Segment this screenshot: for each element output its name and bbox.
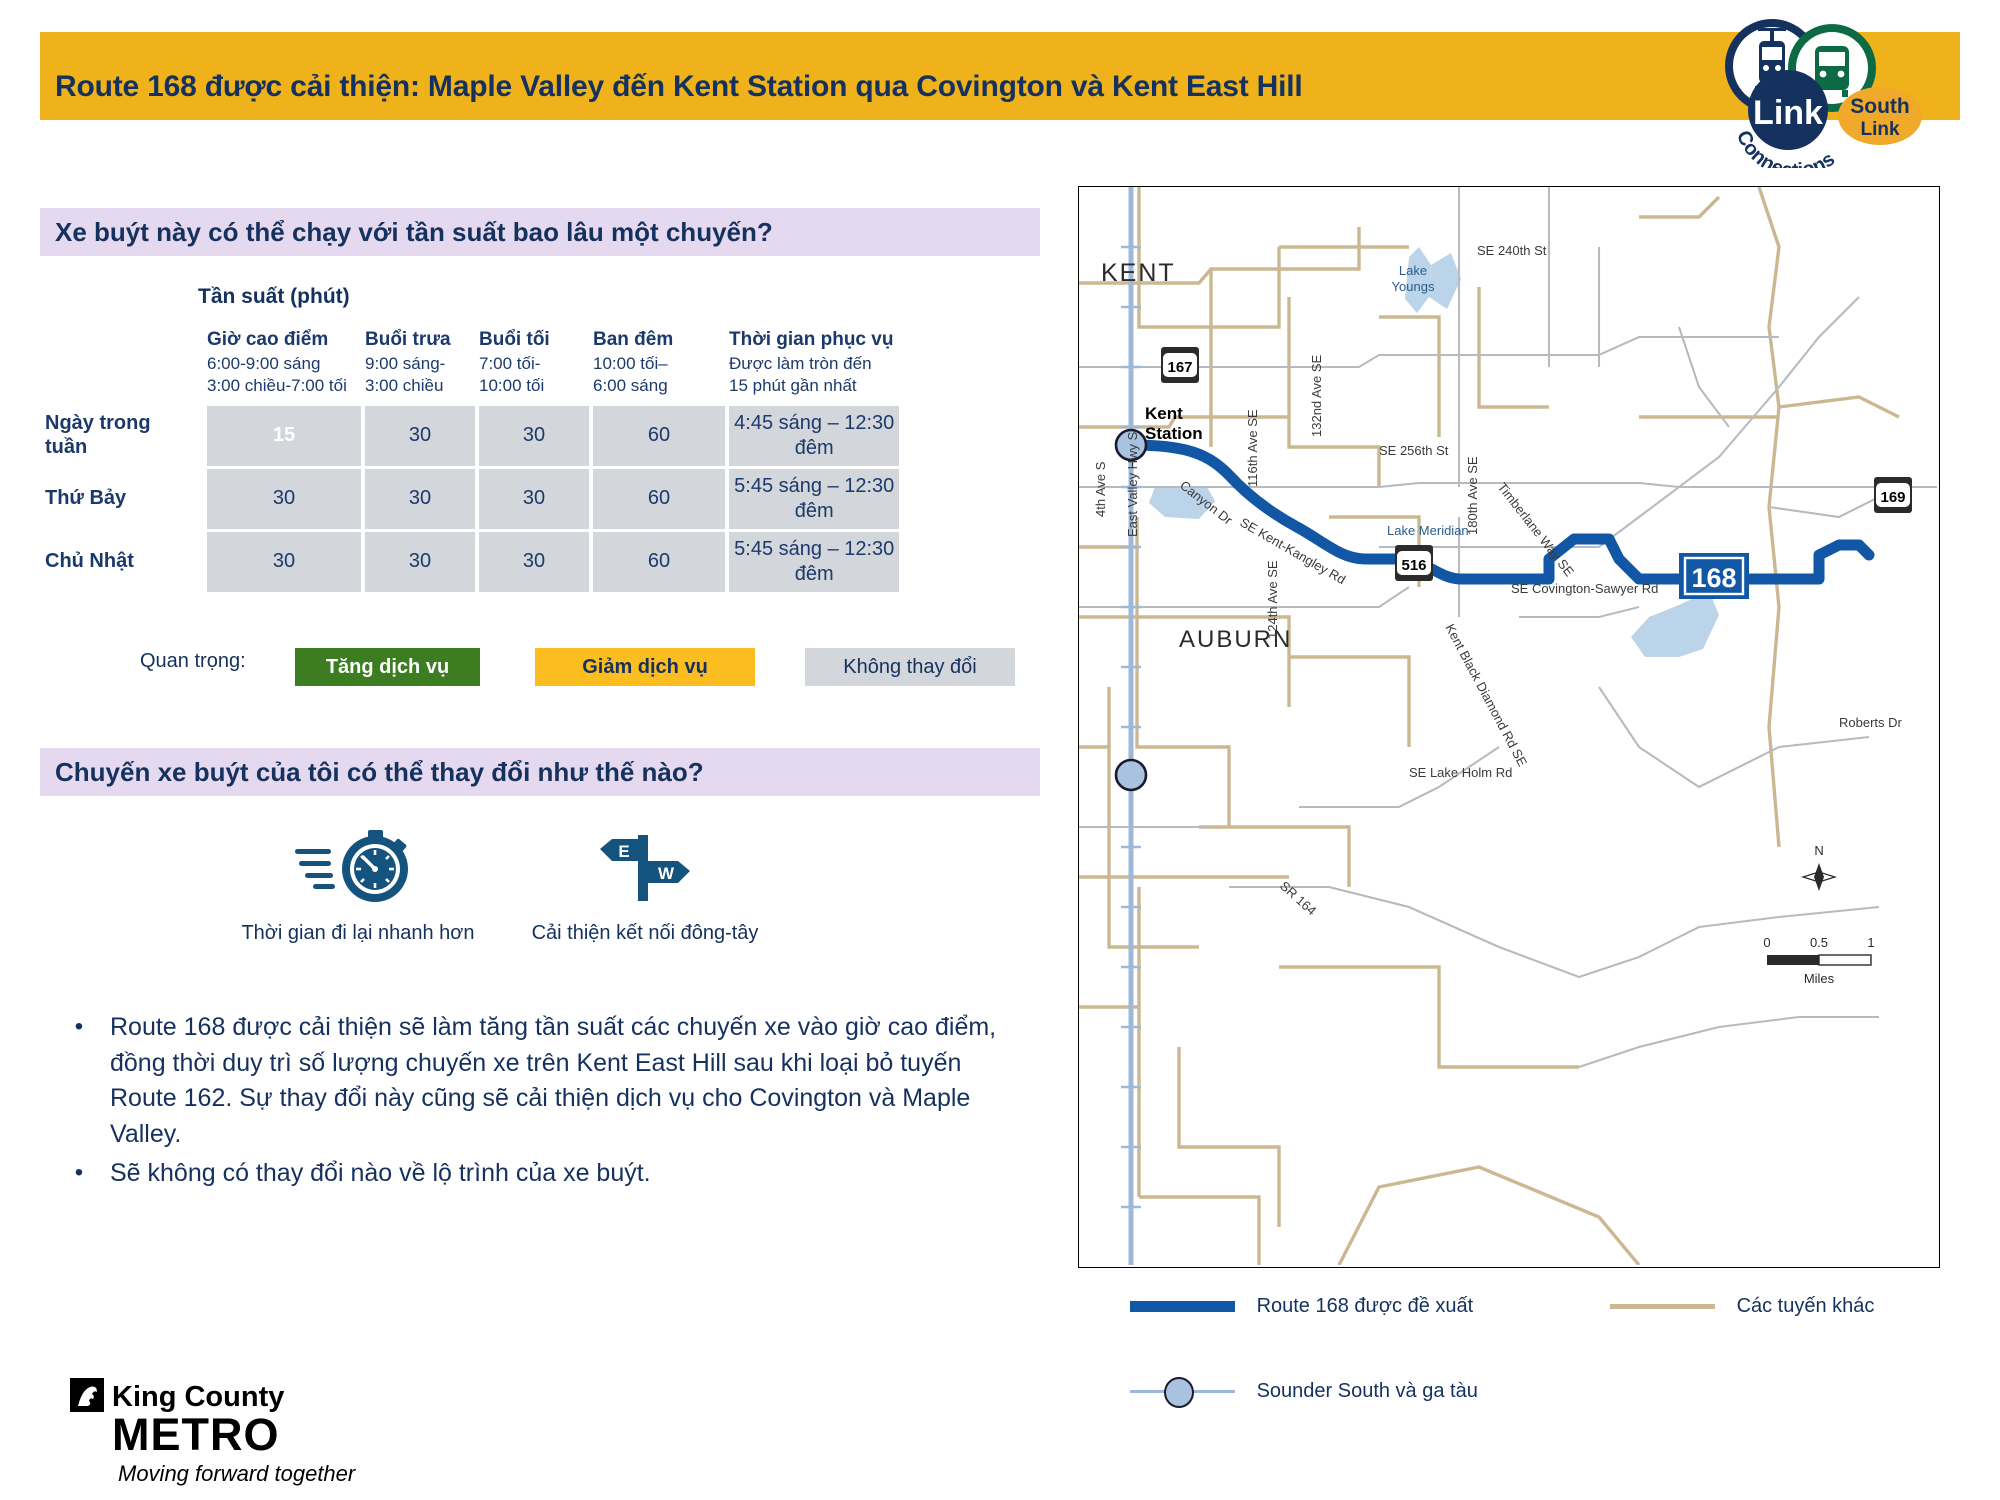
lake-meridian-label: Lake Meridian — [1387, 523, 1469, 538]
svg-text:116th Ave SE: 116th Ave SE — [1245, 409, 1260, 487]
key-chip-no-change: Không thay đổi — [805, 648, 1015, 686]
bullet-list: • Route 168 được cải thiện sẽ làm tăng t… — [48, 1010, 1008, 1196]
column-header-midday: Buổi trưa 9:00 sáng- 3:00 chiều — [365, 329, 475, 403]
cell-saturday-peak: 30 — [207, 469, 361, 529]
svg-text:East Valley Hwy S: East Valley Hwy S — [1125, 431, 1140, 537]
list-item: • Sẽ không có thay đổi nào về lộ trình c… — [48, 1156, 1008, 1192]
page-title: Route 168 được cải thiện: Maple Valley đ… — [55, 72, 1655, 102]
svg-text:169: 169 — [1880, 489, 1905, 506]
table-row: Ngày trong tuần 15 30 30 60 4:45 sáng – … — [44, 406, 899, 466]
logo-south-label: South — [1850, 95, 1909, 118]
cell-weekday-night: 60 — [593, 406, 725, 466]
svg-text:Roberts Dr: Roberts Dr — [1839, 715, 1903, 730]
cell-sunday-span: 5:45 sáng – 12:30 đêm — [729, 532, 899, 592]
east-west-signpost-icon: E W — [520, 826, 770, 906]
kent-station-label-2: Station — [1145, 424, 1203, 443]
svg-text:0: 0 — [1763, 935, 1770, 950]
cell-weekday-evening: 30 — [479, 406, 589, 466]
other-route-line-swatch — [1610, 1304, 1715, 1309]
sounder-station-swatch — [1130, 1377, 1235, 1405]
route-line-swatch — [1130, 1301, 1235, 1312]
legend-sounder: Sounder South và ga tàu — [1130, 1377, 1478, 1405]
logo-south-link-label: Link — [1860, 119, 1899, 140]
legend-other-label: Các tuyến khác — [1737, 1295, 1875, 1318]
highway-shield-167: 167 — [1161, 347, 1199, 383]
kent-station-label: Kent — [1145, 404, 1183, 423]
svg-text:0.5: 0.5 — [1810, 935, 1828, 950]
cell-sunday-evening: 30 — [479, 532, 589, 592]
table-corner-cell — [44, 329, 203, 403]
svg-text:167: 167 — [1167, 359, 1192, 376]
lake-youngs-label-2: Youngs — [1392, 279, 1435, 294]
highway-shield-516: 516 — [1395, 545, 1433, 581]
frequency-caption: Tần suất (phút) — [198, 285, 350, 309]
benefit-east-west-connection: E W Cải thiện kết nối đông-tây — [520, 826, 770, 945]
city-label-kent: KENT — [1101, 259, 1176, 287]
column-header-evening: Buổi tối 7:00 tối- 10:00 tối — [479, 329, 589, 403]
svg-text:1: 1 — [1867, 935, 1874, 950]
row-label-sunday: Chủ Nhật — [44, 532, 203, 592]
benefit-caption: Thời gian đi lại nhanh hơn — [228, 922, 488, 945]
table-row: Thứ Bảy 30 30 30 60 5:45 sáng – 12:30 đê… — [44, 469, 899, 529]
bullet-text: Sẽ không có thay đổi nào về lộ trình của… — [110, 1156, 1008, 1192]
svg-text:124th Ave SE: 124th Ave SE — [1265, 560, 1280, 639]
stopwatch-icon — [228, 826, 488, 906]
cell-saturday-span: 5:45 sáng – 12:30 đêm — [729, 469, 899, 529]
cell-weekday-peak: 15 — [207, 406, 361, 466]
svg-text:N: N — [1814, 843, 1823, 858]
bullet-marker: • — [48, 1156, 110, 1192]
svg-text:4th Ave S: 4th Ave S — [1093, 461, 1108, 517]
svg-text:516: 516 — [1401, 557, 1426, 574]
flyer-page: Route 168 được cải thiện: Maple Valley đ… — [0, 0, 2000, 1500]
signpost-east-label: E — [618, 842, 629, 861]
svg-text:Miles: Miles — [1804, 971, 1835, 986]
bullet-marker: • — [48, 1010, 110, 1152]
auburn-station-marker — [1116, 760, 1146, 790]
cell-saturday-night: 60 — [593, 469, 725, 529]
benefit-faster-travel: Thời gian đi lại nhanh hơn — [228, 826, 488, 945]
column-header-peak: Giờ cao điểm 6:00-9:00 sáng 3:00 chiều-7… — [207, 329, 361, 403]
metro-logo-line2: METRO — [112, 1409, 280, 1460]
logo-link-label: Link — [1753, 94, 1823, 132]
key-chip-increase: Tăng dịch vụ — [295, 648, 480, 686]
changes-section-heading: Chuyến xe buýt của tôi có thể thay đổi n… — [55, 748, 704, 796]
svg-text:SE 240th St: SE 240th St — [1477, 243, 1547, 258]
cell-sunday-night: 60 — [593, 532, 725, 592]
column-header-span: Thời gian phục vụ Được làm tròn đến 15 p… — [729, 329, 899, 403]
svg-text:168: 168 — [1691, 563, 1736, 593]
svg-text:SE 256th St: SE 256th St — [1379, 443, 1449, 458]
list-item: • Route 168 được cải thiện sẽ làm tăng t… — [48, 1010, 1008, 1152]
legend-sounder-label: Sounder South và ga tàu — [1257, 1380, 1478, 1403]
map-legend: Route 168 được đề xuất Các tuyến khác So… — [1090, 1295, 1950, 1425]
table-row: Chủ Nhật 30 30 30 60 5:45 sáng – 12:30 đ… — [44, 532, 899, 592]
bullet-text: Route 168 được cải thiện sẽ làm tăng tần… — [110, 1010, 1008, 1152]
row-label-weekday: Ngày trong tuần — [44, 406, 203, 466]
svg-text:SE Covington-Sawyer Rd: SE Covington-Sawyer Rd — [1511, 581, 1658, 596]
king-county-metro-logo: King County METRO Moving forward togethe… — [70, 1378, 370, 1493]
column-header-night: Ban đêm 10:00 tối– 6:00 sáng — [593, 329, 725, 403]
lake-youngs-label: Lake — [1399, 263, 1427, 278]
cell-weekday-midday: 30 — [365, 406, 475, 466]
metro-logo-tagline: Moving forward together — [118, 1461, 357, 1486]
link-connections-logo: Link South Link Connections — [1700, 8, 1950, 168]
legend-route-168: Route 168 được đề xuất — [1130, 1295, 1473, 1318]
key-chip-decrease: Giảm dịch vụ — [535, 648, 755, 686]
route-map[interactable]: 167 516 169 168 KENT AUBURN Ken — [1078, 186, 1940, 1268]
benefit-caption: Cải thiện kết nối đông-tây — [520, 922, 770, 945]
svg-text:180th Ave SE: 180th Ave SE — [1465, 456, 1480, 535]
cell-sunday-midday: 30 — [365, 532, 475, 592]
svg-text:132nd Ave SE: 132nd Ave SE — [1309, 355, 1324, 437]
svg-text:SE Lake Holm Rd: SE Lake Holm Rd — [1409, 765, 1512, 780]
frequency-section-heading: Xe buýt này có thể chạy với tần suất bao… — [55, 208, 773, 256]
row-label-saturday: Thứ Bảy — [44, 469, 203, 529]
key-label: Quan trọng: — [140, 650, 246, 673]
legend-other-routes: Các tuyến khác — [1610, 1295, 1874, 1318]
legend-route-label: Route 168 được đề xuất — [1257, 1295, 1474, 1318]
cell-sunday-peak: 30 — [207, 532, 361, 592]
route-168-shield: 168 — [1679, 553, 1749, 599]
cell-saturday-midday: 30 — [365, 469, 475, 529]
frequency-table: Giờ cao điểm 6:00-9:00 sáng 3:00 chiều-7… — [40, 326, 903, 595]
signpost-west-label: W — [658, 864, 675, 883]
highway-shield-169: 169 — [1874, 477, 1912, 513]
cell-weekday-span: 4:45 sáng – 12:30 đêm — [729, 406, 899, 466]
cell-saturday-evening: 30 — [479, 469, 589, 529]
table-header-row: Giờ cao điểm 6:00-9:00 sáng 3:00 chiều-7… — [44, 329, 899, 403]
